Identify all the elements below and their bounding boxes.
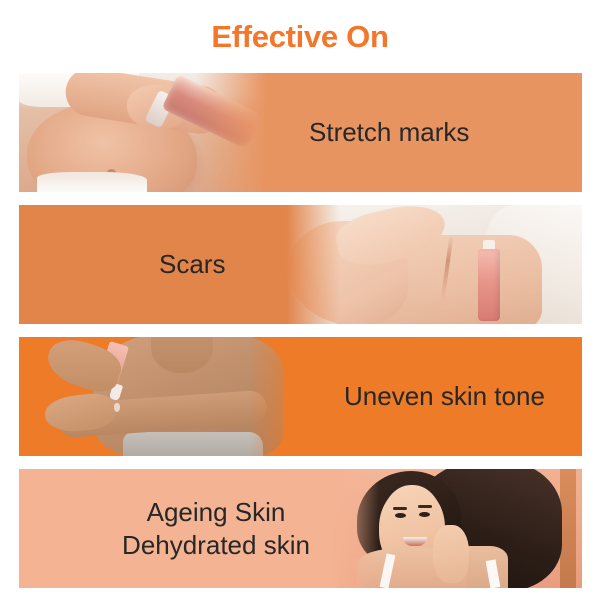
band-ageing-skin: Ageing Skin Dehydrated skin: [19, 469, 582, 588]
band-label-uneven-skin-tone: Uneven skin tone: [344, 380, 545, 413]
band-label-ageing-skin: Ageing Skin Dehydrated skin: [101, 496, 331, 562]
band-label-stretch-marks: Stretch marks: [309, 116, 469, 149]
band-stretch-marks: Stretch marks: [19, 73, 582, 192]
band-label-scars: Scars: [159, 248, 225, 281]
pregnant-belly-applying-oil-photo: [19, 73, 269, 192]
woman-touching-face-in-mirror-photo: [327, 469, 582, 588]
band-scars: Scars: [19, 205, 582, 324]
page-title: Effective On: [0, 18, 600, 56]
legs-with-scar-and-oil-bottle-photo: [282, 205, 582, 324]
woman-dispensing-oil-on-palm-photo: [19, 337, 319, 456]
band-uneven-skin-tone: Uneven skin tone: [19, 337, 582, 456]
